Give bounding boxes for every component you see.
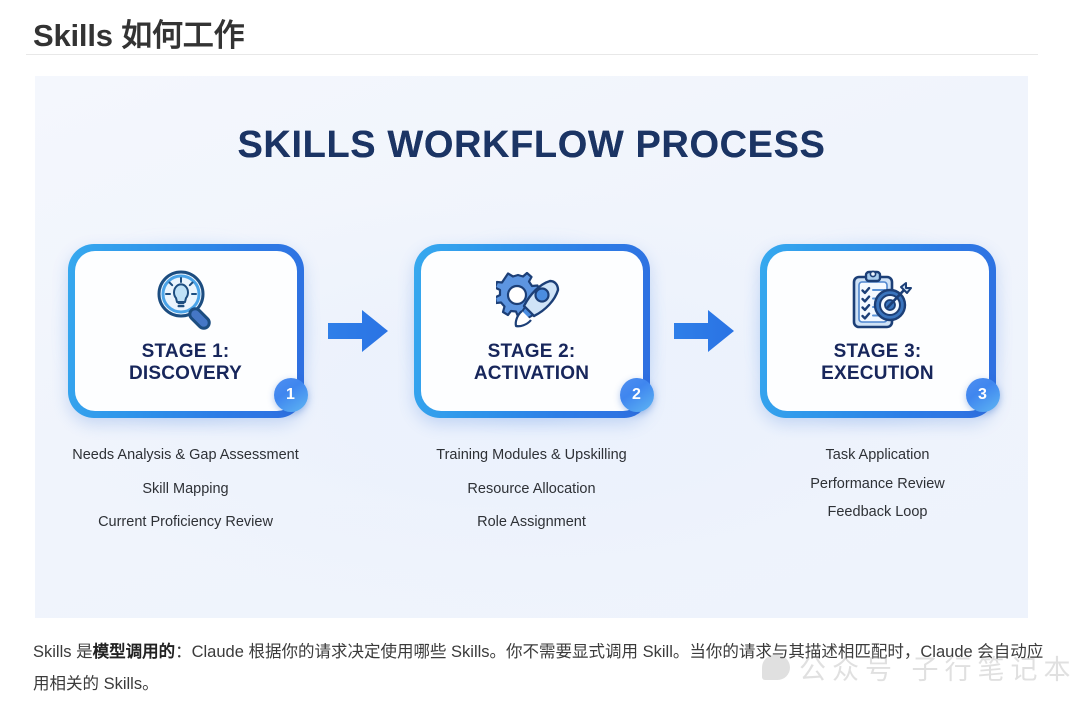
card-border: STAGE 2: ACTIVATION — [414, 244, 650, 418]
list-item: Skill Mapping — [61, 480, 311, 500]
stage-bullets-1: Needs Analysis & Gap Assessment Skill Ma… — [61, 446, 311, 533]
list-item: Performance Review — [753, 475, 1003, 495]
gear-rocket-icon — [494, 263, 570, 339]
page-root: Skills 如何工作 SKILLS WORKFLOW PROCESS — [0, 0, 1080, 706]
caption-part1: Skills 是 — [33, 643, 93, 661]
stage-column-1: STAGE 1: DISCOVERY 1 Needs Analysis & Ga… — [47, 244, 325, 533]
list-item: Current Proficiency Review — [61, 513, 311, 533]
stage-bullets-2: Training Modules & Upskilling Resource A… — [407, 446, 657, 533]
stage-column-3: STAGE 3: EXECUTION 3 Task Application Pe… — [739, 244, 1017, 532]
arrow-right-icon-2 — [671, 244, 739, 418]
caption-part2: ：Claude 根据你的请求决定使用哪些 Skills。你不需要显式调用 Ski… — [33, 643, 1043, 693]
card-title: STAGE 2: ACTIVATION — [474, 341, 589, 385]
stage-card-2[interactable]: STAGE 2: ACTIVATION 2 — [414, 244, 650, 418]
card-title-line1: STAGE 3: — [834, 341, 922, 362]
stage-card-1[interactable]: STAGE 1: DISCOVERY 1 — [68, 244, 304, 418]
card-title-line1: STAGE 2: — [488, 341, 576, 362]
stage-badge-1: 1 — [274, 378, 308, 412]
card-inner: STAGE 2: ACTIVATION — [421, 251, 643, 411]
clipboard-target-icon — [840, 263, 916, 339]
stage-bullets-3: Task Application Performance Review Feed… — [753, 446, 1003, 532]
arrow-right-icon-1 — [325, 244, 393, 418]
stage-badge-2: 2 — [620, 378, 654, 412]
list-item: Task Application — [753, 446, 1003, 466]
caption-bold: 模型调用的 — [93, 643, 176, 661]
list-item: Resource Allocation — [407, 480, 657, 500]
infographic-title: SKILLS WORKFLOW PROCESS — [35, 124, 1028, 167]
stage-badge-3: 3 — [966, 378, 1000, 412]
card-inner: STAGE 3: EXECUTION — [767, 251, 989, 411]
list-item: Training Modules & Upskilling — [407, 446, 657, 466]
card-title-line1: STAGE 1: — [142, 341, 230, 362]
list-item: Role Assignment — [407, 513, 657, 533]
magnifier-lightbulb-icon — [148, 263, 224, 339]
list-item: Needs Analysis & Gap Assessment — [61, 446, 311, 466]
card-title: STAGE 3: EXECUTION — [821, 341, 934, 385]
stages-row: STAGE 1: DISCOVERY 1 Needs Analysis & Ga… — [35, 244, 1028, 533]
title-divider — [26, 54, 1038, 55]
stage-column-2: STAGE 2: ACTIVATION 2 Training Modules &… — [393, 244, 671, 533]
card-title-line2: ACTIVATION — [474, 363, 589, 384]
card-inner: STAGE 1: DISCOVERY — [75, 251, 297, 411]
list-item: Feedback Loop — [753, 503, 1003, 523]
caption-paragraph: Skills 是模型调用的：Claude 根据你的请求决定使用哪些 Skills… — [33, 636, 1045, 700]
card-title: STAGE 1: DISCOVERY — [129, 341, 242, 385]
card-title-line2: EXECUTION — [821, 363, 934, 384]
card-border: STAGE 1: DISCOVERY — [68, 244, 304, 418]
card-title-line2: DISCOVERY — [129, 363, 242, 384]
stage-card-3[interactable]: STAGE 3: EXECUTION 3 — [760, 244, 996, 418]
card-border: STAGE 3: EXECUTION — [760, 244, 996, 418]
infographic-panel: SKILLS WORKFLOW PROCESS — [35, 76, 1028, 618]
page-title: Skills 如何工作 — [33, 10, 244, 55]
